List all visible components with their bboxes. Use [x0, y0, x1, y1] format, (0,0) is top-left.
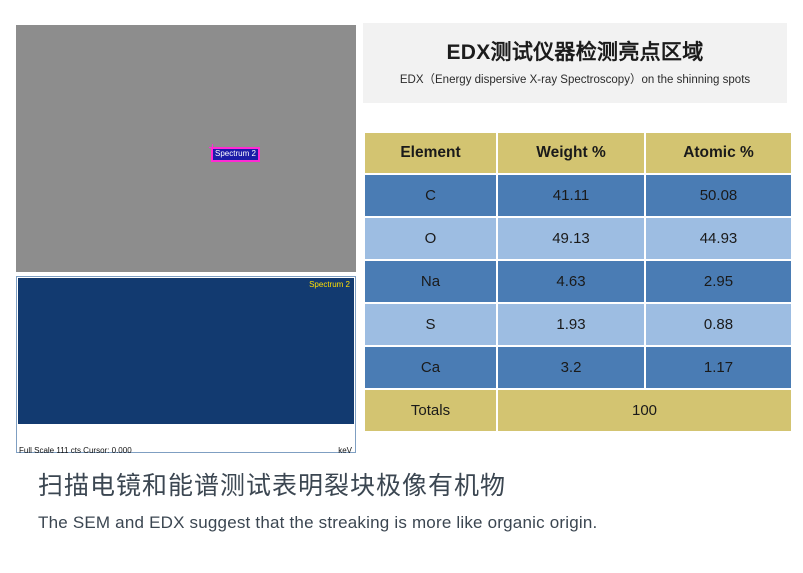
column-header-element: Element: [365, 133, 496, 173]
sem-micrograph: Spectrum 2: [16, 25, 356, 272]
table-row: C 41.11 50.08: [365, 175, 791, 216]
cell-element: Ca: [365, 347, 496, 388]
column-header-weight: Weight %: [498, 133, 644, 173]
table-row: O 49.13 44.93: [365, 218, 791, 259]
edx-spectrum-svg: [18, 278, 354, 424]
cell-atomic: 0.88: [646, 304, 791, 345]
cell-atomic: 2.95: [646, 261, 791, 302]
cell-weight: 1.93: [498, 304, 644, 345]
spectrum-plot-title: Spectrum 2: [309, 280, 350, 289]
spectrum-axis-area: Full Scale 111 cts Cursor: 0.000 keV: [18, 424, 354, 452]
cell-element: Na: [365, 261, 496, 302]
table-row: S 1.93 0.88: [365, 304, 791, 345]
title-panel: EDX测试仪器检测亮点区域 EDX（Energy dispersive X-ra…: [363, 23, 787, 103]
table-row: Ca 3.2 1.17: [365, 347, 791, 388]
table-body: C 41.11 50.08 O 49.13 44.93 Na 4.63 2.95…: [365, 175, 791, 431]
column-header-atomic: Atomic %: [646, 133, 791, 173]
edx-results-table: Element Weight % Atomic % C 41.11 50.08 …: [363, 131, 793, 433]
cell-element: O: [365, 218, 496, 259]
page-subtitle: EDX（Energy dispersive X-ray Spectroscopy…: [400, 73, 750, 87]
cell-atomic: 44.93: [646, 218, 791, 259]
cell-totals-value: 100: [498, 390, 791, 431]
table-header: Element Weight % Atomic %: [365, 133, 791, 173]
left-figure-panel: Spectrum 2 Spectrum 2 Full Scale 111 cts…: [16, 25, 356, 453]
table-row: Na 4.63 2.95: [365, 261, 791, 302]
page-title: EDX测试仪器检测亮点区域: [446, 40, 703, 66]
sem-spectrum-marker-label: Spectrum 2: [211, 147, 260, 162]
caption-chinese: 扫描电镜和能谱测试表明裂块极像有机物: [38, 470, 506, 502]
table-header-row: Element Weight % Atomic %: [365, 133, 791, 173]
caption-english: The SEM and EDX suggest that the streaki…: [38, 512, 597, 534]
cell-atomic: 1.17: [646, 347, 791, 388]
spectrum-status-text: Full Scale 111 cts Cursor: 0.000: [19, 446, 132, 456]
table-totals-row: Totals 100: [365, 390, 791, 431]
edx-spectrum-panel: Spectrum 2 Full Scale 111 cts Cursor: 0.…: [16, 276, 356, 453]
slide-root: Spectrum 2 Spectrum 2 Full Scale 111 cts…: [0, 0, 803, 573]
cell-weight: 41.11: [498, 175, 644, 216]
spectrum-x-axis-unit-label: keV: [338, 446, 352, 456]
spectrum-point-crosshair-icon: [209, 144, 216, 151]
cell-element: S: [365, 304, 496, 345]
cell-weight: 3.2: [498, 347, 644, 388]
cell-atomic: 50.08: [646, 175, 791, 216]
cell-weight: 49.13: [498, 218, 644, 259]
sem-micrograph-canvas: [16, 25, 356, 272]
spectrum-axis-tick-labels: [18, 435, 354, 446]
cell-element: C: [365, 175, 496, 216]
cell-weight: 4.63: [498, 261, 644, 302]
edx-spectrum-plot: Spectrum 2: [18, 278, 354, 424]
cell-totals-label: Totals: [365, 390, 496, 431]
